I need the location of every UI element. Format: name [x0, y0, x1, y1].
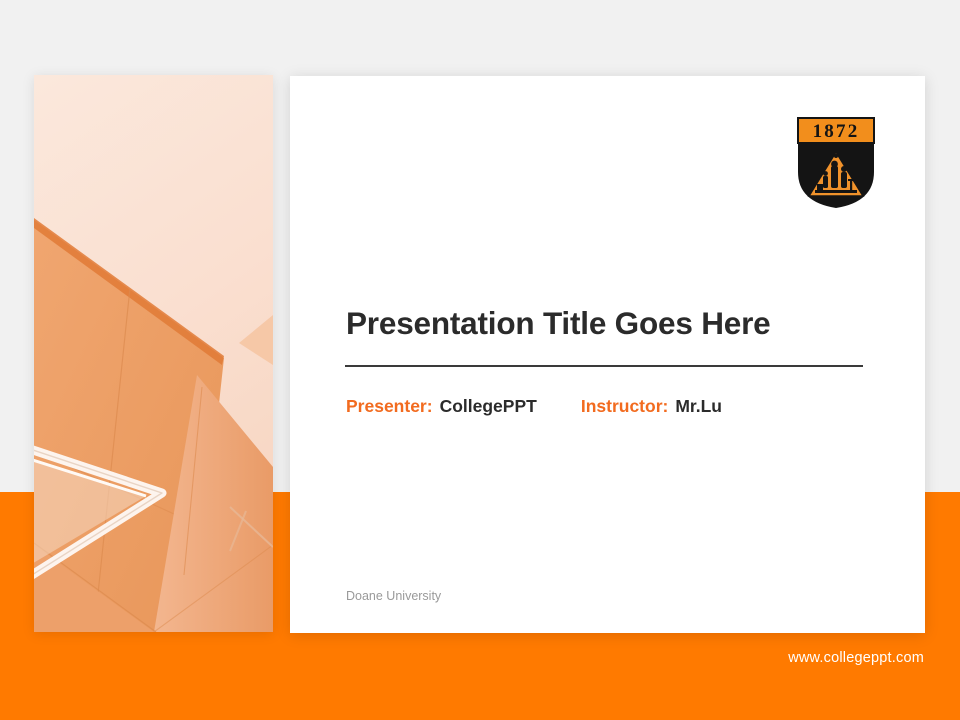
cover-photo — [34, 75, 273, 632]
presentation-slide: 1872 Presentation Title — [0, 0, 960, 720]
crest-year: 1872 — [813, 121, 860, 142]
cover-photo-artwork — [34, 75, 273, 632]
crest-shield-icon: 1872 — [795, 114, 877, 210]
website-watermark: www.collegeppt.com — [788, 650, 924, 666]
presenter-label: Presenter: — [346, 396, 433, 417]
instructor-value: Mr.Lu — [675, 396, 722, 417]
organization-name: Doane University — [346, 589, 441, 603]
slide-content-card: 1872 Presentation Title — [290, 76, 925, 633]
presenter-value: CollegePPT — [440, 396, 537, 417]
credits-row: Presenter: CollegePPT Instructor: Mr.Lu — [346, 396, 722, 417]
page-title: Presentation Title Goes Here — [346, 305, 876, 342]
instructor-label: Instructor: — [581, 396, 669, 417]
university-crest-logo: 1872 — [795, 114, 877, 210]
title-divider — [345, 365, 863, 367]
